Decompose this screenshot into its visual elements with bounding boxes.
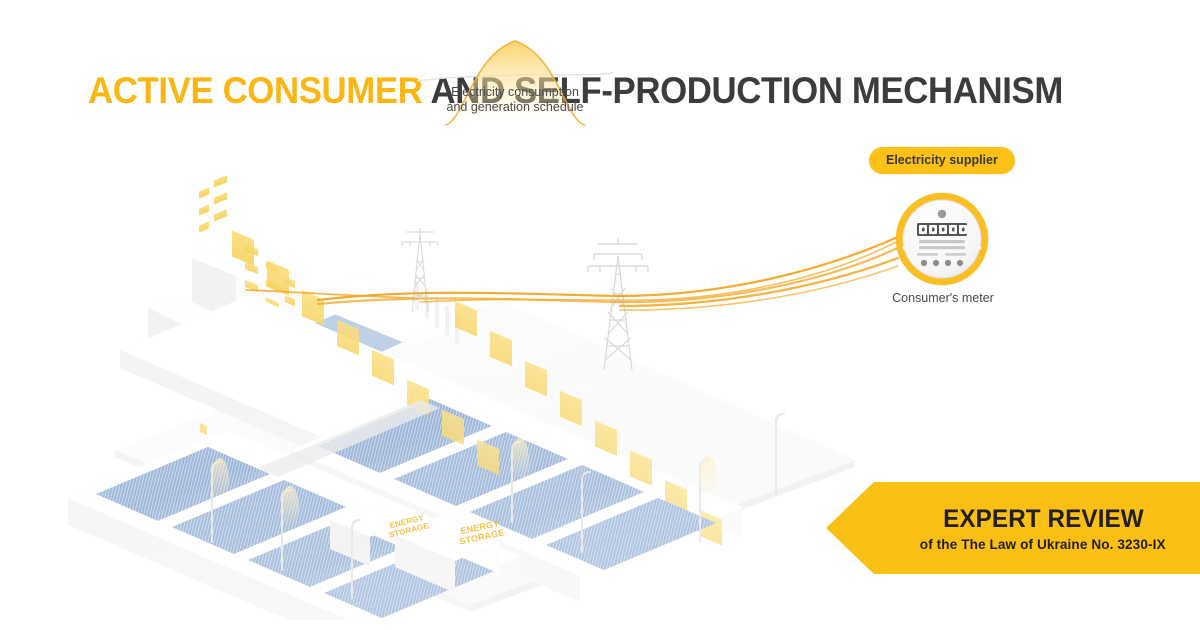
banner-title: EXPERT REVIEW (943, 505, 1144, 533)
schedule-caption-line1: Electricity consumption (400, 85, 630, 100)
meter-caption: Consumer's meter (862, 291, 1024, 305)
meter-bar-1 (919, 240, 965, 243)
meter-top-indicator (938, 210, 946, 218)
electricity-supplier-badge[interactable]: Electricity supplier (869, 147, 1015, 174)
infographic-canvas: ACTIVE CONSUMER AND SELF-PRODUCTION MECH… (0, 0, 1200, 630)
expert-review-banner[interactable]: EXPERT REVIEW of the The Law of Ukraine … (826, 482, 1200, 574)
page-title-accent: ACTIVE CONSUMER (88, 70, 422, 111)
consumer-meter-icon[interactable] (893, 190, 991, 288)
meter-bar-2 (919, 246, 965, 249)
meter-bar-4 (945, 253, 966, 256)
meter-screw-right (978, 246, 981, 249)
scene-svg (0, 150, 900, 620)
schedule-caption-line2: and generation schedule (400, 100, 630, 115)
banner-subtitle: of the The Law of Ukraine No. 3230-IX (920, 536, 1166, 552)
meter-screw-left (902, 246, 905, 249)
isometric-scene-illustration (0, 150, 900, 620)
meter-bar-3 (917, 253, 938, 256)
consumption-generation-curve (415, 15, 615, 135)
schedule-caption: Electricity consumption and generation s… (400, 85, 630, 115)
scene-fade-overlay (0, 150, 900, 620)
